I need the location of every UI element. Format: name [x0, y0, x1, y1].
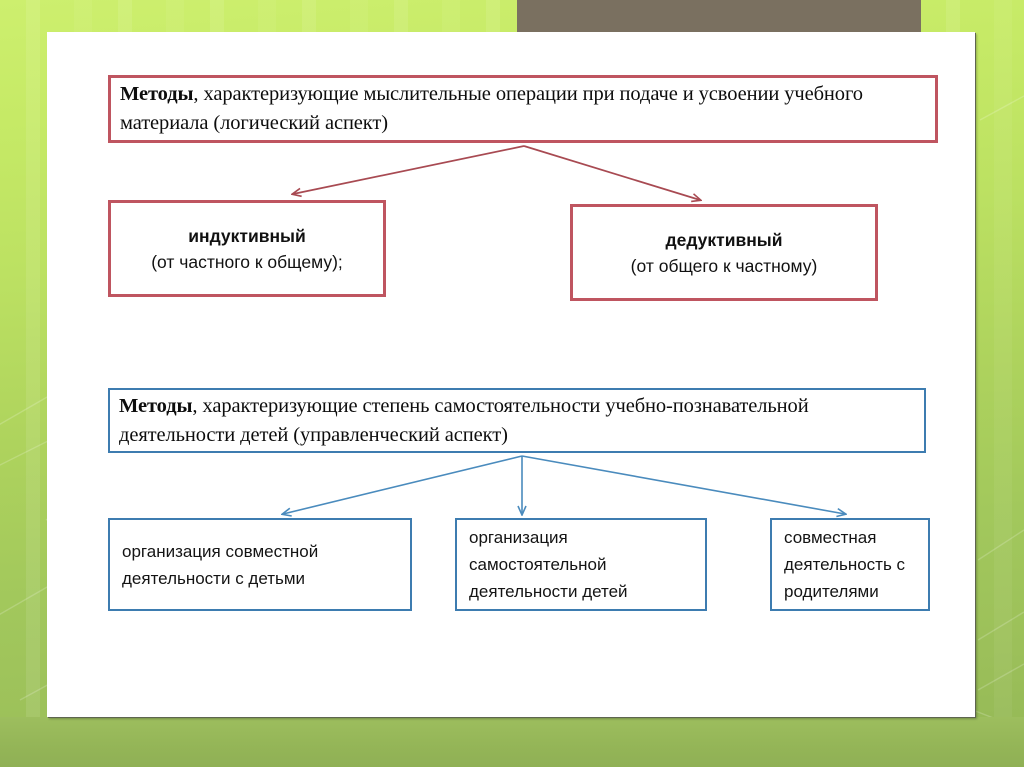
node-header-managerial-text: Методы, характеризующие степень самостоя…	[110, 392, 924, 450]
node-deductive[interactable]: дедуктивный (от общего к частному)	[570, 204, 878, 301]
node-independent-activity-text: организация самостоятельной деятельности…	[457, 524, 705, 605]
node-inductive[interactable]: индуктивный (от частного к общему);	[108, 200, 386, 297]
node-inductive-text: индуктивный (от частного к общему);	[111, 223, 383, 275]
node-header-logical-methods[interactable]: Методы, характеризующие мыслительные опе…	[108, 75, 938, 143]
node-deductive-title: дедуктивный	[579, 227, 869, 253]
connector-logical-left	[293, 146, 524, 194]
node-joint-activity-with-parents[interactable]: совместная деятельность с родителями	[770, 518, 930, 611]
connector-logical-right	[524, 146, 700, 200]
node-header-managerial-rest: , характеризующие степень самостоятельно…	[119, 395, 809, 446]
node-header-logical-lead: Методы	[120, 83, 193, 105]
node-inductive-title: индуктивный	[117, 223, 377, 249]
node-joint-activity-with-parents-text: совместная деятельность с родителями	[772, 524, 928, 605]
node-inductive-subtitle: (от частного к общему);	[151, 252, 343, 272]
node-independent-activity[interactable]: организация самостоятельной деятельности…	[455, 518, 707, 611]
node-joint-activity-with-children-text: организация совместной деятельности с де…	[110, 538, 410, 592]
node-joint-activity-with-children[interactable]: организация совместной деятельности с де…	[108, 518, 412, 611]
diagram-root: Методы, характеризующие мыслительные опе…	[0, 0, 1024, 767]
node-header-logical-rest: , характеризующие мыслительные операции …	[120, 83, 863, 134]
node-deductive-subtitle: (от общего к частному)	[631, 256, 818, 276]
node-header-logical-text: Методы, характеризующие мыслительные опе…	[111, 80, 935, 138]
connector-managerial-left	[283, 456, 522, 514]
node-header-managerial-methods[interactable]: Методы, характеризующие степень самостоя…	[108, 388, 926, 453]
connector-managerial-right	[522, 456, 845, 514]
node-deductive-text: дедуктивный (от общего к частному)	[573, 227, 875, 279]
node-header-managerial-lead: Методы	[119, 395, 192, 417]
slide-canvas: Методы, характеризующие мыслительные опе…	[0, 0, 1024, 767]
